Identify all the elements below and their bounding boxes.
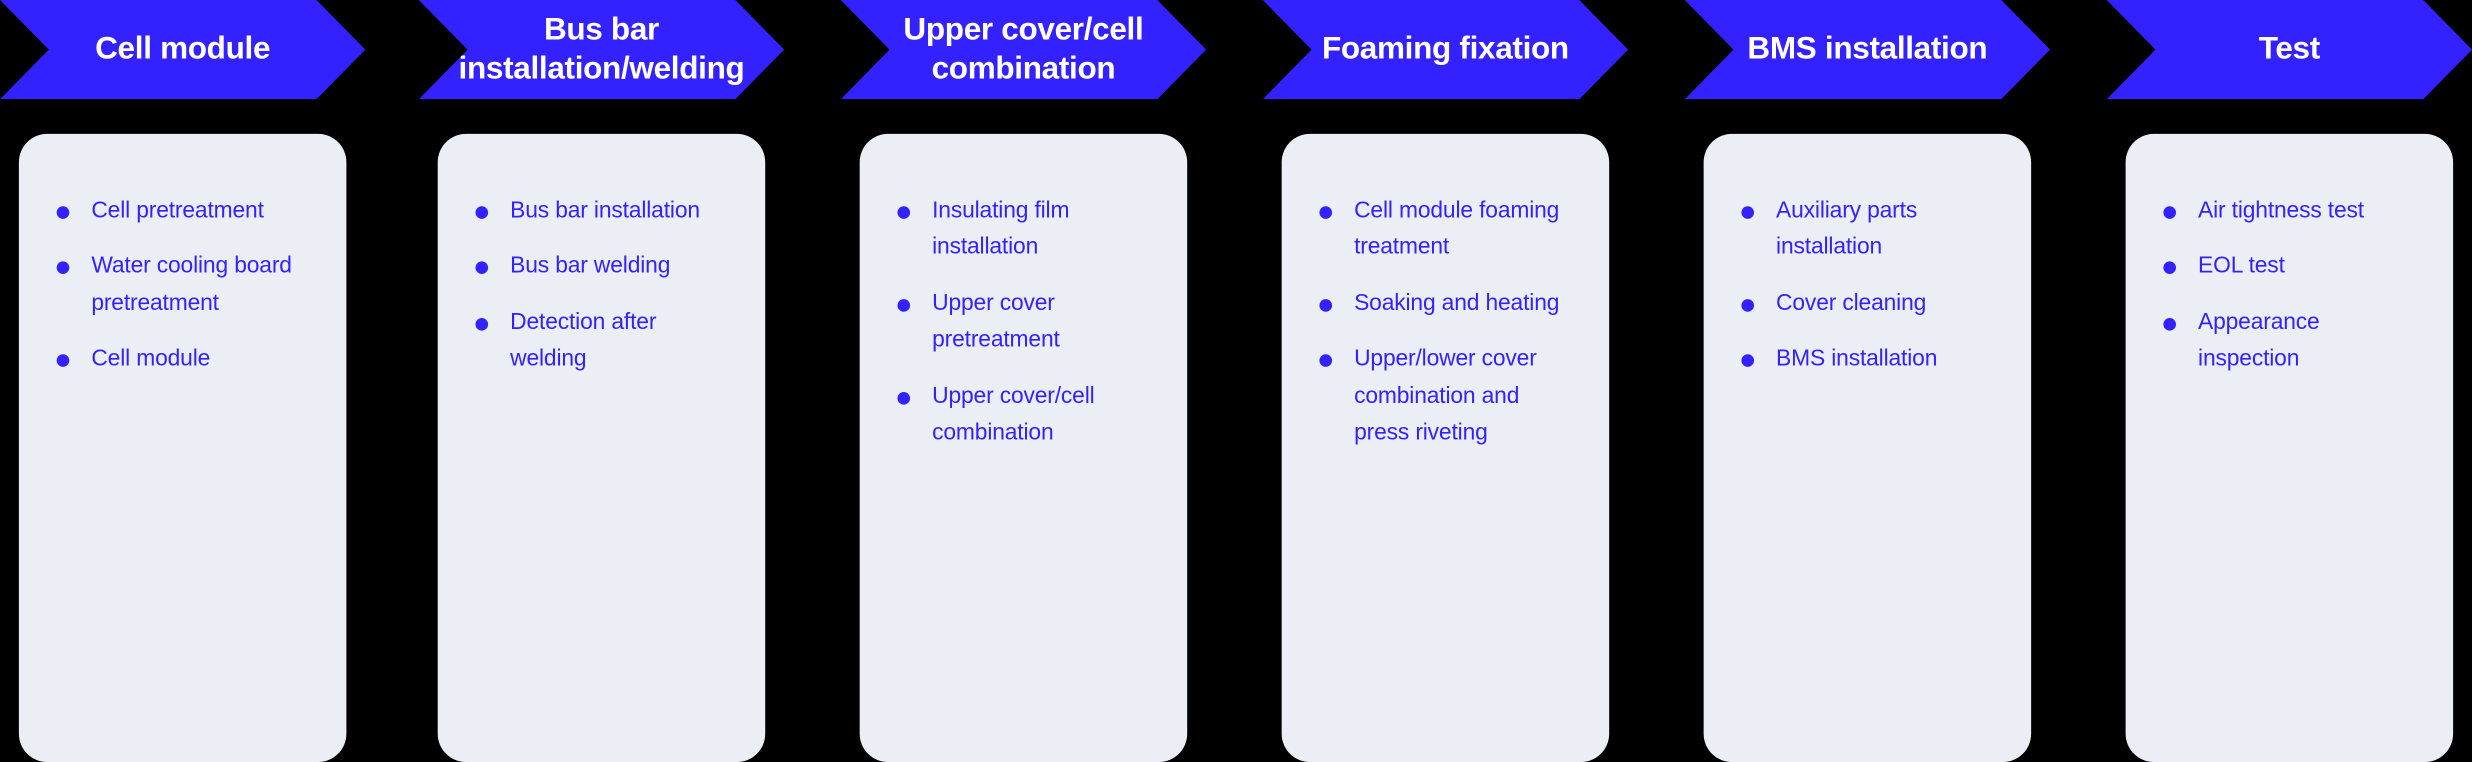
stage-5-task-list: Auxiliary parts installation Cover clean…: [1741, 194, 1993, 380]
list-item-label: EOL test: [2198, 254, 2285, 279]
list-item: EOL test: [2163, 250, 2415, 287]
process-stage-6: Test Air tightness test EOL test Appeara…: [2107, 0, 2472, 718]
bullet-dot-icon: [1319, 299, 1332, 312]
list-item: Cell module foaming treatment: [1319, 194, 1571, 268]
list-item: Cell module: [57, 342, 309, 379]
bullet-dot-icon: [897, 392, 910, 405]
list-item-label: Detection after welding: [510, 310, 656, 372]
list-item-label: Soaking and heating: [1354, 291, 1559, 316]
stage-2-title: Bus bar installation/welding: [402, 11, 801, 88]
list-item: Soaking and heating: [1319, 287, 1571, 324]
list-item: Upper/lower cover combination and press …: [1319, 342, 1571, 453]
process-stage-2: Bus bar installation/welding Bus bar ins…: [419, 0, 784, 718]
list-item-label: Upper cover/cell combination: [932, 384, 1094, 446]
list-item: Upper cover/cell combination: [897, 379, 1149, 453]
list-item: Air tightness test: [2163, 194, 2415, 231]
stage-5-card: Auxiliary parts installation Cover clean…: [1704, 134, 2032, 762]
bullet-dot-icon: [2163, 262, 2176, 275]
list-item-label: Appearance inspection: [2198, 310, 2320, 372]
bullet-dot-icon: [57, 206, 70, 219]
stage-1-title: Cell module: [38, 30, 326, 68]
stage-4-task-list: Cell module foaming treatment Soaking an…: [1319, 194, 1571, 454]
list-item: Water cooling board pretreatment: [57, 250, 309, 324]
stage-5-arrow-header[interactable]: BMS installation: [1685, 0, 2050, 99]
stage-3-card: Insulating film installation Upper cover…: [860, 134, 1188, 762]
list-item-label: Air tightness test: [2198, 198, 2364, 223]
bullet-dot-icon: [897, 299, 910, 312]
bullet-dot-icon: [476, 318, 489, 331]
list-item-label: Bus bar installation: [510, 198, 700, 223]
bullet-dot-icon: [1741, 299, 1754, 312]
stage-6-card: Air tightness test EOL test Appearance i…: [2126, 134, 2454, 762]
process-stage-3: Upper cover/cell combination Insulating …: [841, 0, 1206, 718]
bullet-dot-icon: [1319, 206, 1332, 219]
chevron-right-icon: Cell module: [0, 0, 365, 99]
list-item: Bus bar welding: [476, 250, 728, 287]
bullet-dot-icon: [57, 262, 70, 275]
chevron-right-icon: Bus bar installation/welding: [419, 0, 784, 99]
bullet-dot-icon: [897, 206, 910, 219]
bullet-dot-icon: [1741, 206, 1754, 219]
stage-4-arrow-header[interactable]: Foaming fixation: [1263, 0, 1628, 99]
stage-4-card: Cell module foaming treatment Soaking an…: [1282, 134, 1610, 762]
list-item: Detection after welding: [476, 305, 728, 379]
stage-1-card: Cell pretreatment Water cooling board pr…: [19, 134, 347, 762]
list-item-label: Water cooling board pretreatment: [91, 254, 291, 316]
process-stage-5: BMS installation Auxiliary parts install…: [1685, 0, 2050, 718]
process-flow-diagram: Cell module Cell pretreatment Water cool…: [0, 0, 2472, 456]
list-item: BMS installation: [1741, 342, 1993, 379]
bullet-dot-icon: [476, 206, 489, 219]
stage-6-title: Test: [2202, 30, 2377, 68]
stage-6-arrow-header[interactable]: Test: [2107, 0, 2472, 99]
list-item-label: Cell pretreatment: [91, 198, 263, 223]
chevron-right-icon: Foaming fixation: [1263, 0, 1628, 99]
stage-5-title: BMS installation: [1691, 30, 2044, 68]
list-item: Bus bar installation: [476, 194, 728, 231]
list-item-label: Upper cover pretreatment: [932, 291, 1060, 353]
bullet-dot-icon: [2163, 318, 2176, 331]
list-item: Cell pretreatment: [57, 194, 309, 231]
list-item-label: Insulating film installation: [932, 198, 1069, 260]
chevron-right-icon: Test: [2107, 0, 2472, 99]
list-item: Auxiliary parts installation: [1741, 194, 1993, 268]
list-item-label: Cover cleaning: [1776, 291, 1926, 316]
stage-1-task-list: Cell pretreatment Water cooling board pr…: [57, 194, 309, 380]
chevron-right-icon: Upper cover/cell combination: [841, 0, 1206, 99]
process-stage-4: Foaming fixation Cell module foaming tre…: [1263, 0, 1628, 718]
bullet-dot-icon: [476, 262, 489, 275]
chevron-right-icon: BMS installation: [1685, 0, 2050, 99]
list-item: Upper cover pretreatment: [897, 287, 1149, 361]
list-item: Cover cleaning: [1741, 287, 1993, 324]
list-item: Insulating film installation: [897, 194, 1149, 268]
list-item-label: Upper/lower cover combination and press …: [1354, 347, 1537, 446]
stage-4-title: Foaming fixation: [1265, 30, 1625, 68]
list-item-label: Cell module: [91, 347, 210, 372]
bullet-dot-icon: [1319, 355, 1332, 368]
stage-3-title: Upper cover/cell combination: [841, 11, 1206, 88]
bullet-dot-icon: [57, 355, 70, 368]
stage-2-card: Bus bar installation Bus bar welding Det…: [438, 134, 766, 762]
stage-6-task-list: Air tightness test EOL test Appearance i…: [2163, 194, 2415, 380]
process-stage-1: Cell module Cell pretreatment Water cool…: [0, 0, 365, 718]
stage-3-task-list: Insulating film installation Upper cover…: [897, 194, 1149, 454]
stage-2-arrow-header[interactable]: Bus bar installation/welding: [419, 0, 784, 99]
stage-1-arrow-header[interactable]: Cell module: [0, 0, 365, 99]
list-item-label: BMS installation: [1776, 347, 1937, 372]
list-item-label: Auxiliary parts installation: [1776, 198, 1917, 260]
list-item: Appearance inspection: [2163, 305, 2415, 379]
stage-2-task-list: Bus bar installation Bus bar welding Det…: [476, 194, 728, 380]
list-item-label: Bus bar welding: [510, 254, 670, 279]
bullet-dot-icon: [2163, 206, 2176, 219]
list-item-label: Cell module foaming treatment: [1354, 198, 1559, 260]
bullet-dot-icon: [1741, 355, 1754, 368]
stage-3-arrow-header[interactable]: Upper cover/cell combination: [841, 0, 1206, 99]
